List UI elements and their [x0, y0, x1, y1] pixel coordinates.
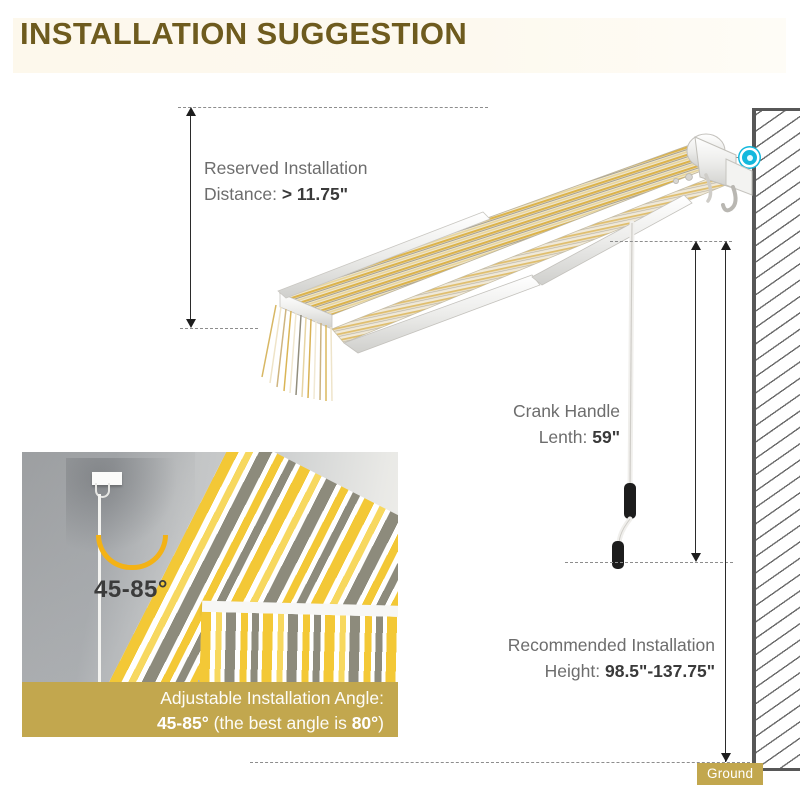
reserved-distance-label: Distance: [204, 184, 282, 204]
install-height-label: Height: [545, 661, 605, 681]
reserved-distance-callout: Reserved Installation Distance: > 11.75" [204, 155, 367, 207]
reserved-distance-arrow-bottom-icon [186, 319, 196, 328]
reserved-distance-arrow-top-icon [186, 107, 196, 116]
crank-handle-callout: Crank Handle Lenth: 59" [420, 398, 620, 450]
installation-suggestion-diagram: INSTALLATION SUGGESTION [0, 0, 800, 800]
reserved-distance-dim-line [190, 110, 191, 326]
crank-bottom-dash [565, 562, 733, 563]
photo-caption-close-paren: ) [378, 713, 384, 733]
reserved-distance-line1: Reserved Installation [204, 155, 367, 181]
crank-handle-line2: Lenth: 59" [420, 424, 620, 450]
ground-dash-line [250, 762, 750, 763]
page-title: INSTALLATION SUGGESTION [20, 16, 467, 52]
photo-angle-label: 45-85° [94, 576, 168, 604]
reserved-distance-value: > 11.75" [282, 184, 348, 204]
crank-handle-value: 59" [592, 427, 620, 447]
crank-arrow-top-icon [691, 241, 701, 250]
photo-caption-angle-range: 45-85° [157, 713, 209, 733]
photo-caption-best-angle: 80° [352, 713, 378, 733]
photo-caption-line1: Adjustable Installation Angle: [22, 686, 384, 711]
photo-caption-best-text: (the best angle is [209, 713, 352, 733]
reserved-distance-line2: Distance: > 11.75" [204, 181, 367, 207]
photo-caption-bar: Adjustable Installation Angle: 45-85° (t… [22, 682, 398, 737]
ground-label-badge: Ground [697, 763, 763, 785]
crank-dim-line [695, 244, 696, 560]
install-height-value: 98.5"-137.75" [605, 661, 715, 681]
crank-handle-illustration [580, 215, 700, 575]
crank-arrow-bottom-icon [691, 553, 701, 562]
reserved-distance-top-dash [178, 107, 488, 108]
install-height-callout: Recommended Installation Height: 98.5"-1… [400, 632, 715, 684]
crank-handle-line1: Crank Handle [420, 398, 620, 424]
crank-top-dash [610, 241, 732, 242]
install-height-dim-line [725, 244, 726, 762]
install-height-line1: Recommended Installation [400, 632, 715, 658]
photo-caption-line2: 45-85° (the best angle is 80°) [22, 711, 384, 736]
crank-handle-label: Lenth: [539, 427, 593, 447]
install-height-line2: Height: 98.5"-137.75" [400, 658, 715, 684]
install-height-arrow-top-icon [721, 241, 731, 250]
reserved-distance-bottom-dash [180, 328, 258, 329]
install-height-arrow-bottom-icon [721, 753, 731, 762]
